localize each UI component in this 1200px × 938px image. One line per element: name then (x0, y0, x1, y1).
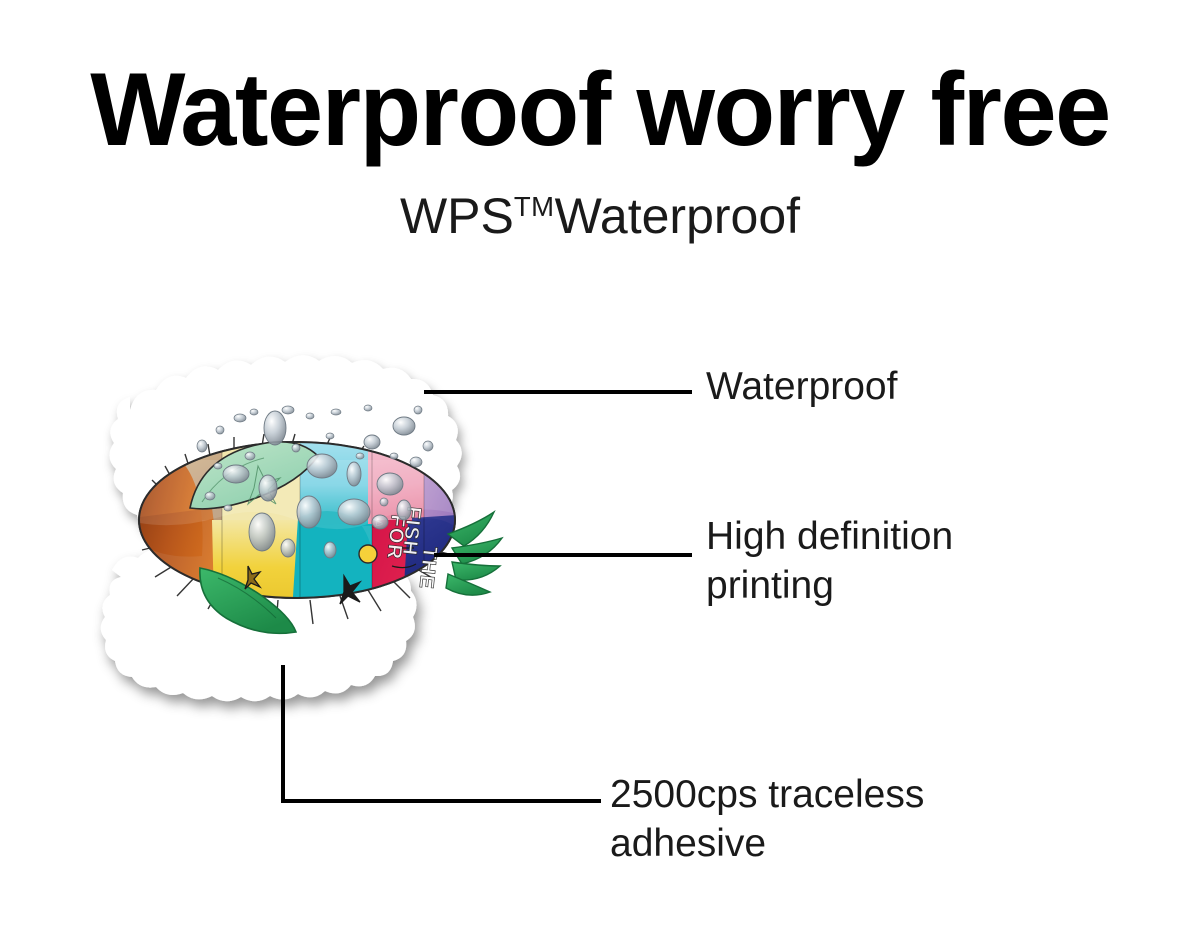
leader-line-waterproof (424, 390, 692, 394)
leader-line-adhesive-vertical (281, 665, 285, 803)
page-title: Waterproof worry free (18, 54, 1182, 166)
poster-canvas: Waterproof worry free WPSTMWaterproof (0, 0, 1200, 938)
fish-eye (359, 545, 377, 563)
subtitle-rest: Waterproof (555, 188, 800, 244)
callout-label-traceless-adhesive: 2500cps traceless adhesive (610, 770, 924, 868)
product-illustration: FISH FOR THE A (72, 270, 542, 730)
callout-label-high-definition-printing: High definition printing (706, 512, 953, 610)
leader-line-adhesive-horizontal (281, 799, 601, 803)
callout-label-waterproof: Waterproof (706, 362, 897, 411)
page-subtitle: WPSTMWaterproof (0, 178, 1200, 245)
leader-line-high-definition-printing (434, 553, 692, 557)
trademark-mark: TM (514, 191, 555, 222)
subtitle-brand: WPS (400, 188, 514, 244)
